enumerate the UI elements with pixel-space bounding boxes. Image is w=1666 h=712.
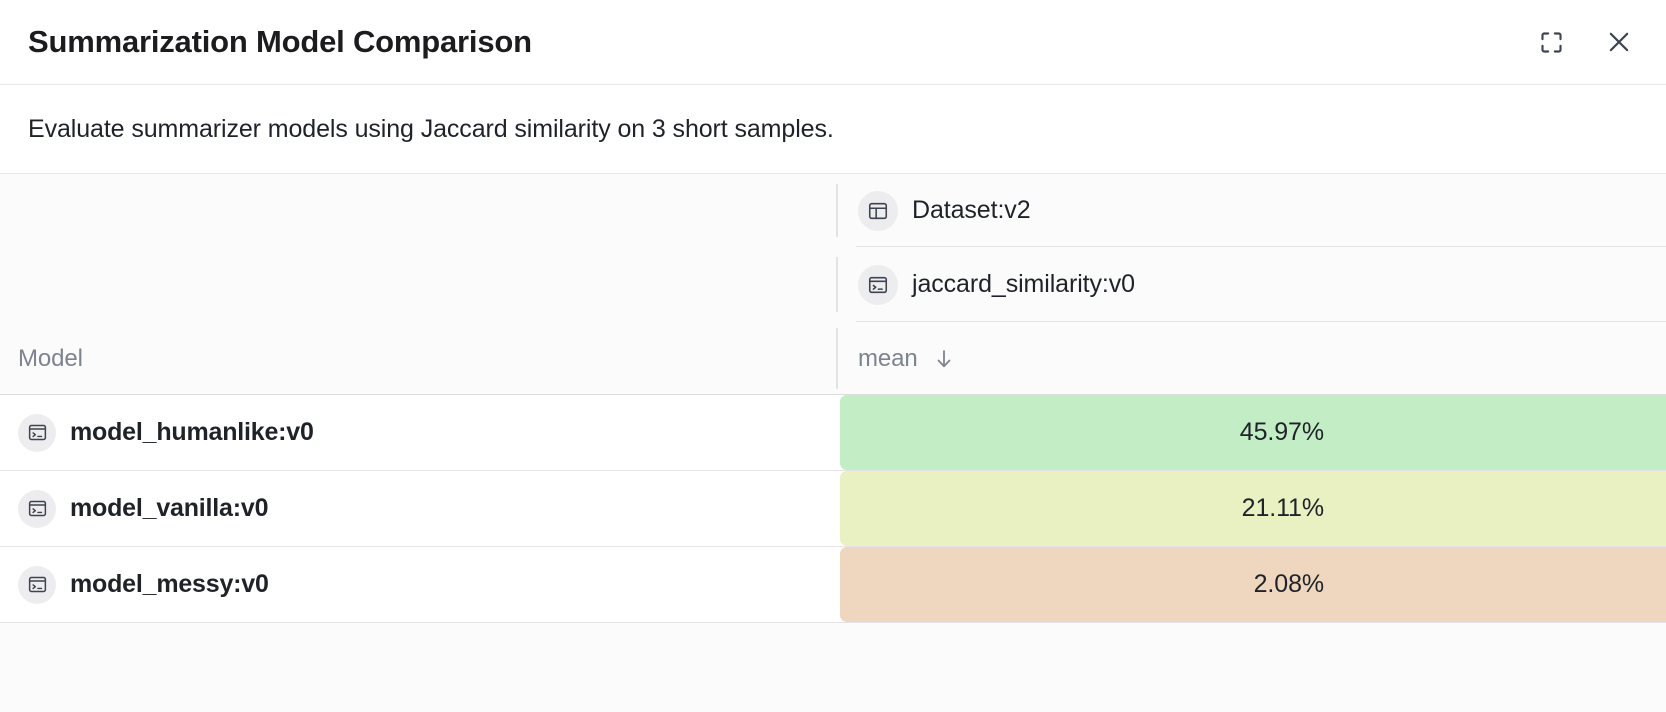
sort-toggle-mean[interactable]: mean [858, 345, 956, 373]
model-column-label: Model [18, 345, 83, 373]
dataset-header-cell[interactable]: Dataset:v2 [836, 184, 1666, 237]
model-name: model_humanlike:v0 [70, 418, 314, 447]
dataset-entity[interactable]: Dataset:v2 [858, 191, 1031, 231]
score-cell: 21.11% [836, 471, 1666, 546]
score-cell: 2.08% [836, 547, 1666, 622]
score-bar: 21.11% [840, 471, 1666, 546]
score-cell: 45.97% [836, 395, 1666, 470]
model-cell[interactable]: model_messy:v0 [0, 547, 836, 622]
table-row[interactable]: model_humanlike:v0 45.97% [0, 395, 1666, 471]
page-title: Summarization Model Comparison [28, 25, 1534, 59]
metric-header-row: jaccard_similarity:v0 [0, 247, 1666, 322]
table-body: model_humanlike:v0 45.97% [0, 395, 1666, 623]
terminal-icon [18, 566, 56, 604]
model-comparison-modal: Summarization Model Comparison Evaluate … [0, 0, 1666, 712]
score-bar: 45.97% [840, 395, 1666, 470]
modal-titlebar: Summarization Model Comparison [0, 0, 1666, 85]
score-bar: 2.08% [840, 547, 1666, 622]
expand-icon[interactable] [1534, 25, 1568, 59]
score-value: 45.97% [1240, 418, 1324, 447]
terminal-icon [18, 414, 56, 452]
metric-header-spacer [0, 247, 836, 322]
model-name: model_messy:v0 [70, 570, 269, 599]
terminal-icon [858, 265, 898, 305]
metric-label: jaccard_similarity:v0 [912, 270, 1135, 299]
comparison-table: Dataset:v2 [0, 174, 1666, 712]
aggregate-column-label: mean [858, 345, 918, 373]
model-cell[interactable]: model_humanlike:v0 [0, 395, 836, 470]
model-cell[interactable]: model_vanilla:v0 [0, 471, 836, 546]
table-row[interactable]: model_vanilla:v0 21.11% [0, 471, 1666, 547]
model-column-header[interactable]: Model [0, 322, 836, 395]
close-icon[interactable] [1602, 25, 1636, 59]
dataset-table-icon [858, 191, 898, 231]
description-text: Evaluate summarizer models using Jaccard… [28, 115, 834, 144]
score-value: 2.08% [1254, 570, 1324, 599]
dataset-header-spacer [0, 174, 836, 247]
metric-header-cell[interactable]: jaccard_similarity:v0 [836, 257, 1666, 312]
column-header-row: Model mean [0, 322, 1666, 395]
dataset-label: Dataset:v2 [912, 196, 1031, 225]
terminal-icon [18, 490, 56, 528]
aggregate-column-header: mean [836, 328, 1666, 389]
metric-entity[interactable]: jaccard_similarity:v0 [858, 265, 1135, 305]
dataset-header-row: Dataset:v2 [0, 174, 1666, 247]
table-row[interactable]: model_messy:v0 2.08% [0, 547, 1666, 623]
titlebar-actions [1534, 25, 1636, 59]
table-header: Dataset:v2 [0, 174, 1666, 395]
arrow-down-icon[interactable] [932, 347, 956, 371]
modal-description: Evaluate summarizer models using Jaccard… [0, 85, 1666, 174]
score-value: 21.11% [1242, 494, 1324, 523]
model-name: model_vanilla:v0 [70, 494, 268, 523]
